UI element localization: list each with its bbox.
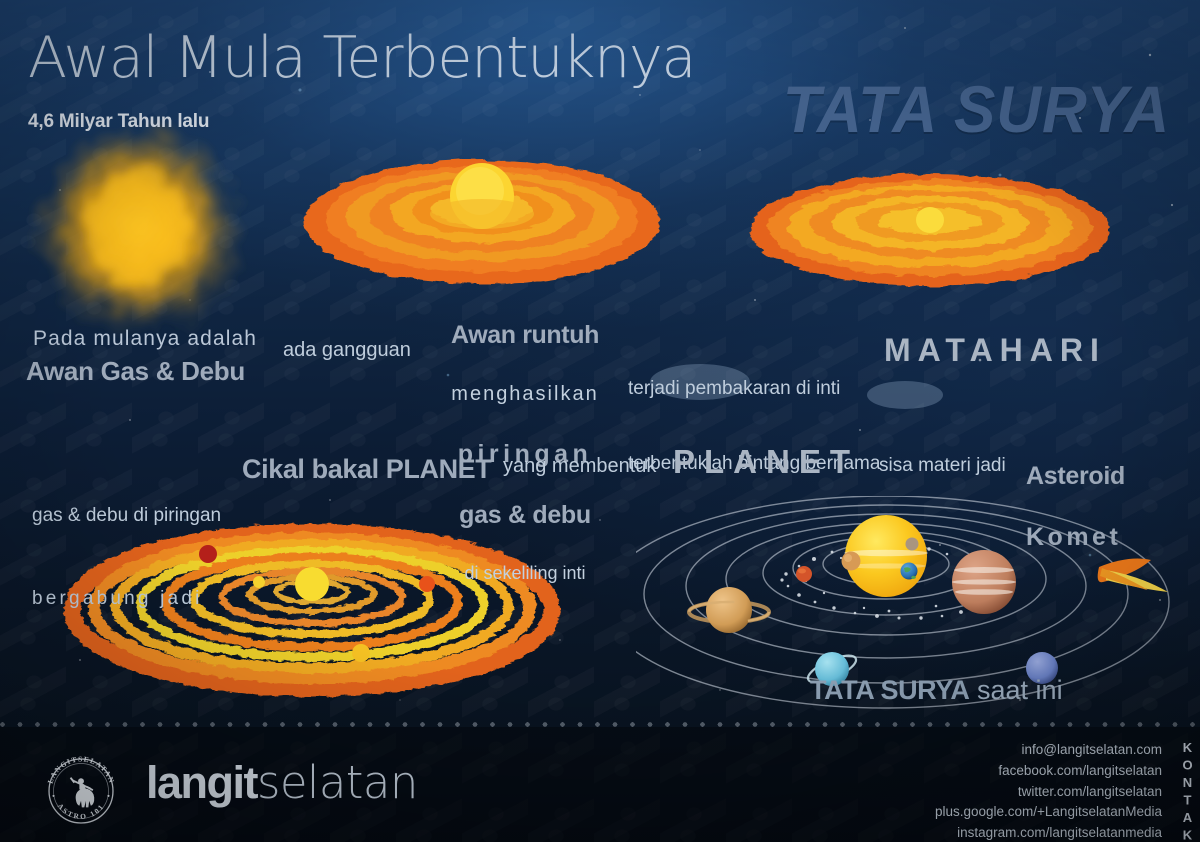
collapsing-cloud-disk-visual (300, 128, 664, 296)
solar-system-caption-light: saat ini (970, 675, 1063, 705)
planet-merkurius (906, 538, 919, 551)
stage5-line1: gas & debu di piringan (32, 502, 221, 530)
stage1-caption-line1: Pada mulanya adalah (33, 328, 257, 351)
stage5-caption-block: gas & debu di piringan bergabung jadi (32, 447, 221, 667)
brand-wordmark: langitselatan (146, 760, 418, 805)
contact-googleplus[interactable]: plus.google.com/+LangitselatanMedia (935, 802, 1162, 823)
stage7-label-komet: Komet (1026, 524, 1125, 551)
planet-saturnus (689, 587, 769, 633)
stage5-label-cikal-bakal-planet: Cikal bakal PLANET (242, 455, 491, 484)
kontak-vertical-label: KONTAK (1181, 740, 1194, 842)
brand-light: selatan (257, 756, 418, 809)
subtitle-timeframe: 4,6 Milyar Tahun lalu (28, 112, 209, 133)
stage4-caption-block: terjadi pembakaran di inti terbentuklah … (628, 326, 880, 527)
contact-list: info@langitselatan.com facebook.com/lang… (935, 740, 1162, 842)
brand-bold: langit (146, 757, 257, 808)
gas-dust-cloud-visual (10, 112, 280, 352)
stage4-label-matahari: MATAHARI (884, 333, 1106, 368)
stage7-label-block: Asteroid Komet (1026, 428, 1125, 585)
planet-venus (842, 552, 861, 571)
page-title: Awal Mula Terbentuknya (28, 28, 695, 90)
stage5-line2: bergabung jadi (32, 585, 221, 613)
stage7-caption: sisa materi jadi (879, 456, 1006, 477)
solar-system-caption-bold: TATA SURYA (810, 675, 970, 705)
contact-instagram[interactable]: instagram.com/langitselatanmedia (935, 823, 1162, 842)
stage3-line5: di sekeliling inti (430, 562, 620, 585)
planet-mars (796, 566, 812, 582)
footer-divider (0, 722, 1200, 727)
title-accent-tata-surya: TATA SURYA (783, 74, 1170, 145)
stage3-line1: Awan runtuh (430, 323, 620, 349)
stage2-caption: ada gangguan (283, 340, 411, 362)
contact-email[interactable]: info@langitselatan.com (935, 740, 1162, 761)
stage3-line4: gas & debu (430, 503, 620, 528)
contact-facebook[interactable]: facebook.com/langitselatan (935, 761, 1162, 782)
langitselatan-seal-logo: LANGITSELATAN ASTRO 101 (40, 750, 122, 832)
stage7-label-asteroid: Asteroid (1026, 463, 1125, 490)
contact-twitter[interactable]: twitter.com/langitselatan (935, 782, 1162, 803)
stage1-caption-line2: Awan Gas & Debu (26, 357, 245, 385)
stage4-line1: terjadi pembakaran di inti (628, 376, 880, 401)
sun-forming-disk-visual (742, 158, 1124, 300)
stage6-caption: yang membentuk (503, 456, 656, 478)
solar-system-caption: TATA SURYA saat ini (810, 676, 1063, 705)
infographic-poster: Awal Mula Terbentuknya 4,6 Milyar Tahun … (0, 0, 1200, 842)
stage3-line2: menghasilkan (430, 383, 620, 406)
stage6-label-planet: PLANET (673, 444, 859, 480)
